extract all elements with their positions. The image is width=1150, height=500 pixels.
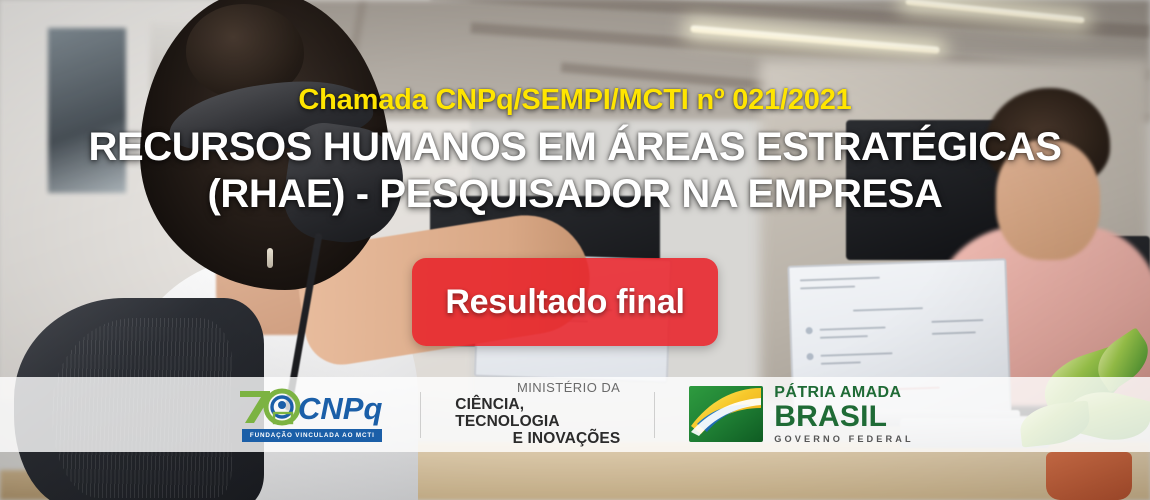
ministry-logo[interactable]: MINISTÉRIO DA CIÊNCIA, TECNOLOGIA E INOV…	[455, 381, 620, 448]
cnpq-wordmark-svg: CNPq	[236, 385, 384, 427]
governo-federal-logo[interactable]: PÁTRIA AMADA BRASIL GOVERNO FEDERAL	[689, 385, 913, 444]
campaign-banner: Chamada CNPq/SEMPI/MCTI nº 021/2021 RECU…	[0, 0, 1150, 500]
brasil-line-2: BRASIL	[774, 402, 913, 432]
footer-divider-1	[420, 392, 421, 438]
cnpq-tagline: FUNDAÇÃO VINCULADA AO MCTI	[250, 432, 375, 439]
brazil-flag-icon	[689, 386, 763, 442]
ministry-line-3: E INOVAÇÕES	[513, 430, 621, 447]
cnpq-logo-mark: CNPq	[236, 385, 386, 427]
call-title: Chamada CNPq/SEMPI/MCTI nº 021/2021	[0, 84, 1150, 117]
resultado-final-button[interactable]: Resultado final	[412, 258, 718, 346]
governo-federal-wordmark: PÁTRIA AMADA BRASIL GOVERNO FEDERAL	[774, 385, 913, 444]
resultado-final-button-label: Resultado final	[445, 283, 684, 322]
page-title-line-2: (RHAE) - PESQUISADOR NA EMPRESA	[0, 171, 1150, 218]
page-title: RECURSOS HUMANOS EM ÁREAS ESTRATÉGICAS (…	[0, 124, 1150, 218]
ministry-line-2: CIÊNCIA, TECNOLOGIA	[455, 396, 620, 431]
ministry-line-1: MINISTÉRIO DA	[517, 381, 620, 396]
logo-footer-bar: CNPq FUNDAÇÃO VINCULADA AO MCTI MINISTÉR…	[0, 377, 1150, 452]
brasil-line-1: PÁTRIA AMADA	[774, 385, 913, 401]
brasil-line-3: GOVERNO FEDERAL	[774, 435, 913, 444]
brazil-flag-svg	[689, 386, 763, 442]
page-title-line-1: RECURSOS HUMANOS EM ÁREAS ESTRATÉGICAS	[0, 124, 1150, 171]
cnpq-tagline-banner: FUNDAÇÃO VINCULADA AO MCTI	[242, 429, 382, 442]
cnpq-logo[interactable]: CNPq FUNDAÇÃO VINCULADA AO MCTI	[236, 385, 386, 445]
footer-divider-2	[654, 392, 655, 438]
svg-text:CNPq: CNPq	[298, 391, 382, 426]
